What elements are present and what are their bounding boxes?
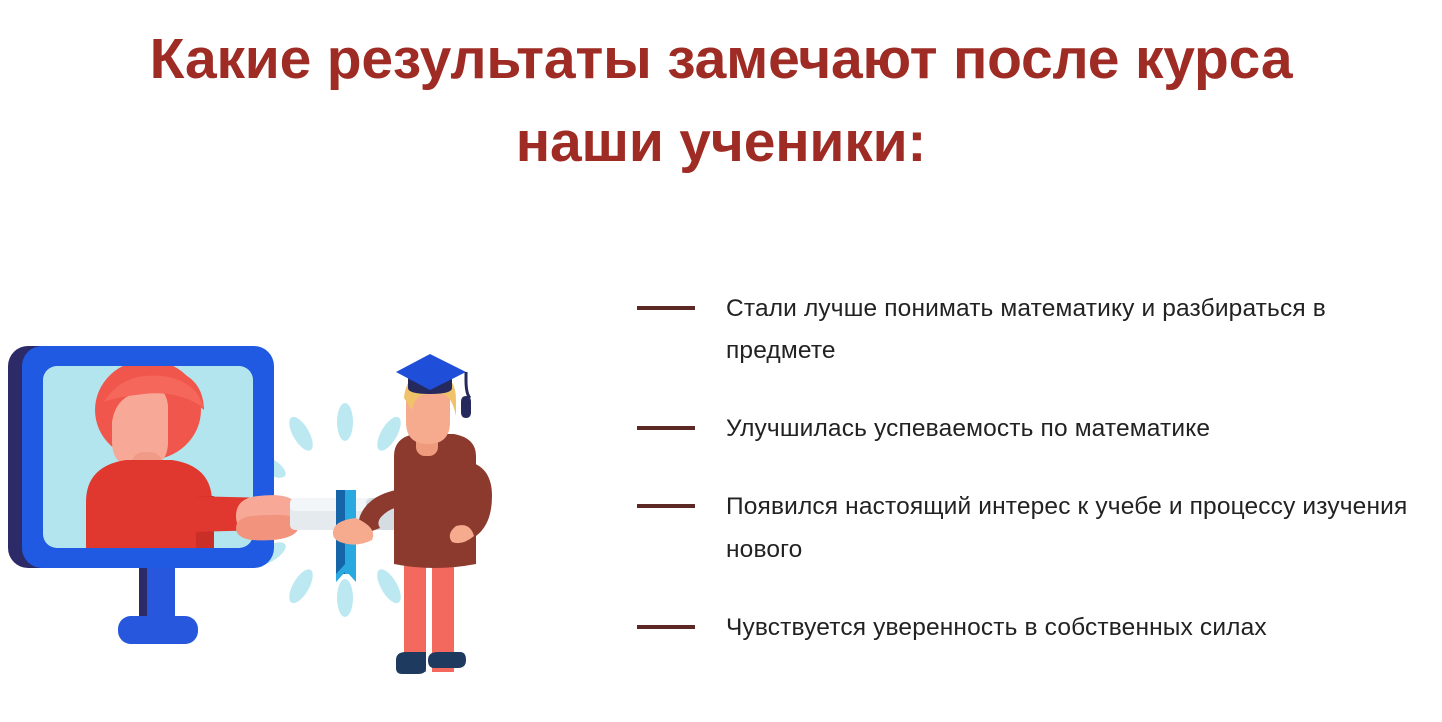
list-item: Появился настоящий интерес к учебе и про…	[637, 486, 1442, 570]
list-item-label: Стали лучше понимать математику и разбир…	[726, 288, 1441, 372]
list-item-label: Улучшилась успеваемость по математике	[726, 408, 1210, 450]
list-item: Улучшилась успеваемость по математике	[637, 408, 1442, 450]
dash-marker-icon	[637, 625, 695, 629]
monitor-icon	[8, 346, 301, 644]
dash-marker-icon	[637, 306, 695, 310]
list-item-label: Появился настоящий интерес к учебе и про…	[726, 486, 1441, 570]
list-item-label: Чувствуется уверенность в собственных си…	[726, 607, 1267, 649]
list-item: Чувствуется уверенность в собственных си…	[637, 607, 1442, 649]
page-title: Какие результаты замечают после курса на…	[0, 18, 1442, 183]
page-title-line-1: Какие результаты замечают после курса	[0, 18, 1442, 101]
page-title-line-2: наши ученики:	[0, 101, 1442, 184]
dash-marker-icon	[637, 504, 695, 508]
page-root: Какие результаты замечают после курса на…	[0, 0, 1442, 722]
illustration-teacher-graduate	[0, 330, 520, 690]
dash-marker-icon	[637, 426, 695, 430]
list-item: Стали лучше понимать математику и разбир…	[637, 288, 1442, 372]
results-list: Стали лучше понимать математику и разбир…	[637, 288, 1442, 649]
